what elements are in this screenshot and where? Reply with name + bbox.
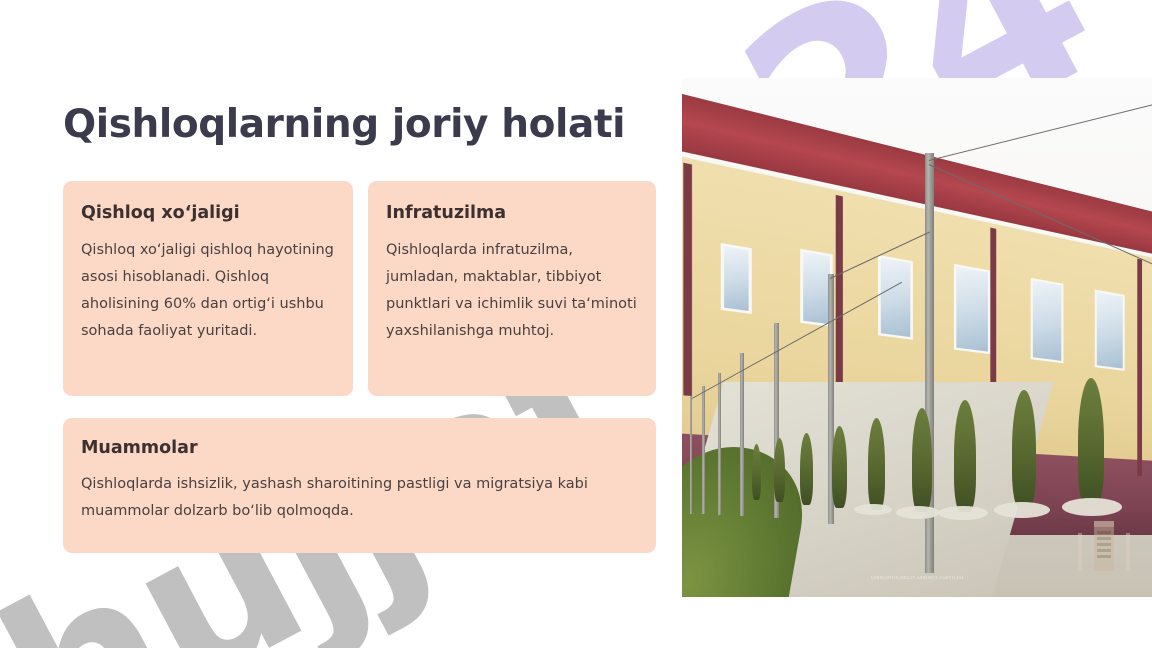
photo-tree bbox=[800, 433, 813, 505]
photo-tree bbox=[752, 444, 761, 500]
village-houses-photo: UZBEKISTON MILLIY AXBOROT AGENTLIGI bbox=[682, 78, 1152, 597]
card-qishloq-xojaligi: Qishloq xo‘jaligi Qishloq xo‘jaligi qish… bbox=[63, 181, 353, 396]
photo-utility-pole bbox=[702, 386, 705, 514]
photo-tree bbox=[954, 400, 976, 512]
photo-downpipe bbox=[683, 163, 692, 396]
card-title: Infratuzilma bbox=[386, 203, 656, 223]
photo-tree bbox=[774, 438, 785, 502]
photo-window bbox=[954, 264, 990, 354]
card-infratuzilma: Infratuzilma Qishloqlarda infratuzilma, … bbox=[368, 181, 656, 396]
photo-tree bbox=[912, 408, 932, 512]
photo-downpipe bbox=[1137, 259, 1142, 477]
photo-utility-pole bbox=[740, 353, 744, 516]
photo-window bbox=[1031, 278, 1064, 363]
page-title: Qishloqlarning joriy holati bbox=[63, 102, 625, 147]
photo-utility-pole bbox=[690, 396, 692, 514]
photo-utility-pole bbox=[718, 373, 721, 515]
card-title: Qishloq xo‘jaligi bbox=[81, 203, 353, 223]
photo-tree bbox=[1078, 378, 1104, 506]
card-title: Muammolar bbox=[81, 438, 656, 458]
photo-stone-ring bbox=[854, 504, 892, 515]
agency-logo-caption: UZBEKISTON MILLIY AXBOROT AGENTLIGI bbox=[682, 575, 1152, 581]
slide-canvas: 24 hujjat bbox=[0, 0, 1152, 648]
photo-window bbox=[878, 255, 913, 340]
photo-window bbox=[721, 243, 752, 314]
photo-stone-ring bbox=[938, 506, 988, 520]
card-body: Qishloqlarda ishsizlik, yashash sharoiti… bbox=[81, 471, 638, 525]
photo-tree bbox=[832, 426, 847, 508]
card-body: Qishloqlarda infratuzilma, jumladan, mak… bbox=[386, 237, 638, 345]
card-body: Qishloq xo‘jaligi qishloq hayotining aso… bbox=[81, 237, 335, 345]
card-muammolar: Muammolar Qishloqlarda ishsizlik, yashas… bbox=[63, 418, 656, 553]
photo-tree bbox=[868, 418, 885, 510]
photo-window bbox=[1095, 290, 1125, 371]
photo-stone-ring bbox=[994, 502, 1050, 518]
photo-tree bbox=[1012, 390, 1036, 508]
photo-stone-ring bbox=[896, 506, 940, 519]
